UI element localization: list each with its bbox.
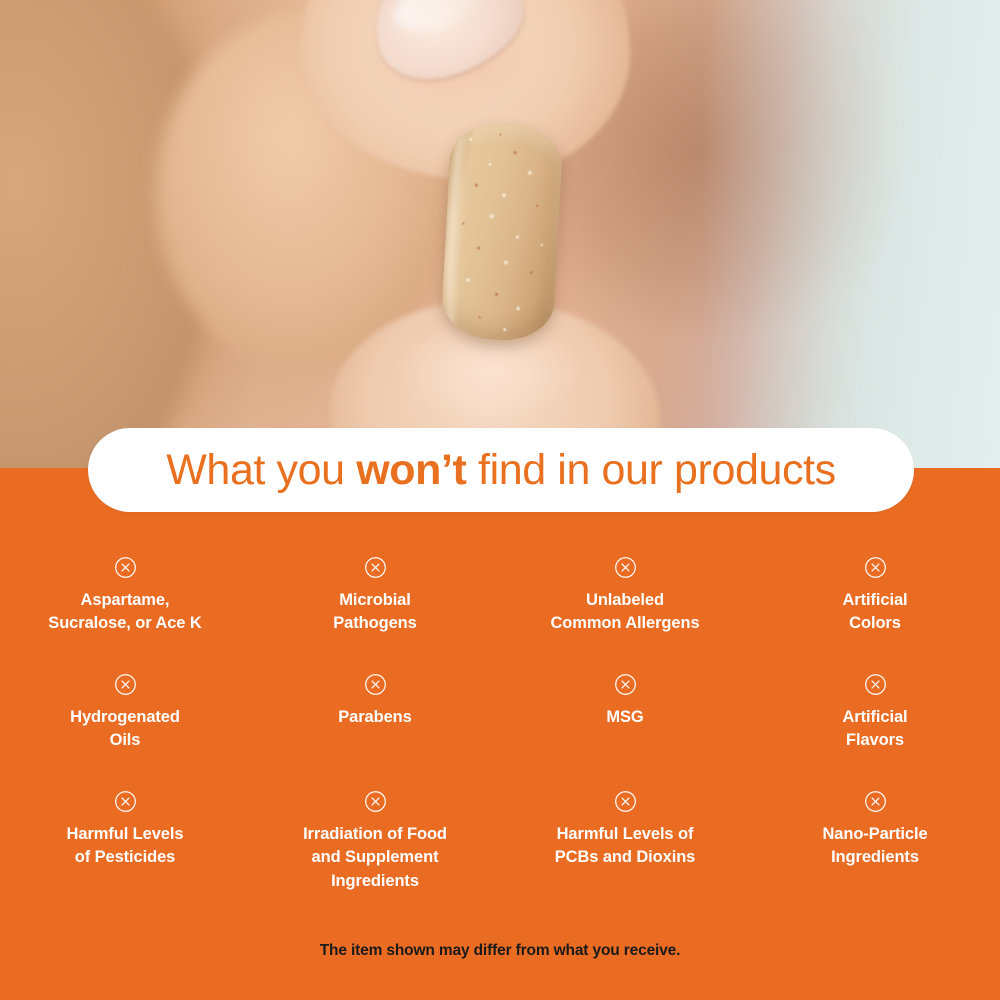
exclusion-label: Microbial Pathogens (333, 589, 416, 636)
circle-x-icon (864, 673, 887, 696)
headline-pill: What you won’t find in our products (88, 428, 914, 512)
exclusion-item: Harmful Levels of PCBs and Dioxins (500, 774, 750, 904)
circle-x-icon (114, 556, 137, 579)
exclusion-item: Parabens (250, 657, 500, 774)
circle-x-icon (864, 556, 887, 579)
exclusion-label: Parabens (338, 706, 412, 729)
product-infographic-poster: What you won’t find in our products Aspa… (0, 0, 1000, 1000)
exclusion-label: Artificial Colors (842, 589, 907, 636)
circle-x-icon (114, 673, 137, 696)
photo-right-highlight (700, 0, 1000, 470)
circle-x-icon (114, 790, 137, 813)
exclusion-label: Hydrogenated Oils (70, 706, 180, 753)
headline-emphasis: won’t (356, 446, 466, 494)
exclusion-item: Unlabeled Common Allergens (500, 540, 750, 657)
circle-x-icon (614, 556, 637, 579)
circle-x-icon (864, 790, 887, 813)
exclusion-label: Nano-Particle Ingredients (822, 823, 927, 870)
exclusion-item: Irradiation of Food and Supplement Ingre… (250, 774, 500, 904)
circle-x-icon (364, 556, 387, 579)
exclusion-label: Aspartame, Sucralose, or Ace K (48, 589, 201, 636)
exclusions-grid: Aspartame, Sucralose, or Ace K Microbial… (0, 540, 1000, 904)
headline-part-1: What you (166, 446, 356, 494)
exclusion-item: Harmful Levels of Pesticides (0, 774, 250, 904)
disclaimer-text: The item shown may differ from what you … (0, 942, 1000, 960)
page-title: What you won’t find in our products (166, 449, 836, 492)
exclusion-item: Artificial Colors (750, 540, 1000, 657)
exclusion-label: Unlabeled Common Allergens (550, 589, 699, 636)
product-photo (0, 0, 1000, 470)
supplement-tablet (440, 121, 563, 343)
exclusion-item: Hydrogenated Oils (0, 657, 250, 774)
exclusion-label: Harmful Levels of Pesticides (67, 823, 184, 870)
exclusion-label: Irradiation of Food and Supplement Ingre… (303, 823, 447, 893)
exclusion-item: MSG (500, 657, 750, 774)
exclusion-item: Artificial Flavors (750, 657, 1000, 774)
exclusion-label: Artificial Flavors (842, 706, 907, 753)
exclusion-label: Harmful Levels of PCBs and Dioxins (555, 823, 696, 870)
exclusion-item: Aspartame, Sucralose, or Ace K (0, 540, 250, 657)
headline-part-2: find in our products (466, 446, 835, 494)
exclusion-label: MSG (606, 706, 643, 729)
exclusion-item: Nano-Particle Ingredients (750, 774, 1000, 904)
circle-x-icon (614, 790, 637, 813)
exclusion-item: Microbial Pathogens (250, 540, 500, 657)
circle-x-icon (614, 673, 637, 696)
circle-x-icon (364, 790, 387, 813)
circle-x-icon (364, 673, 387, 696)
